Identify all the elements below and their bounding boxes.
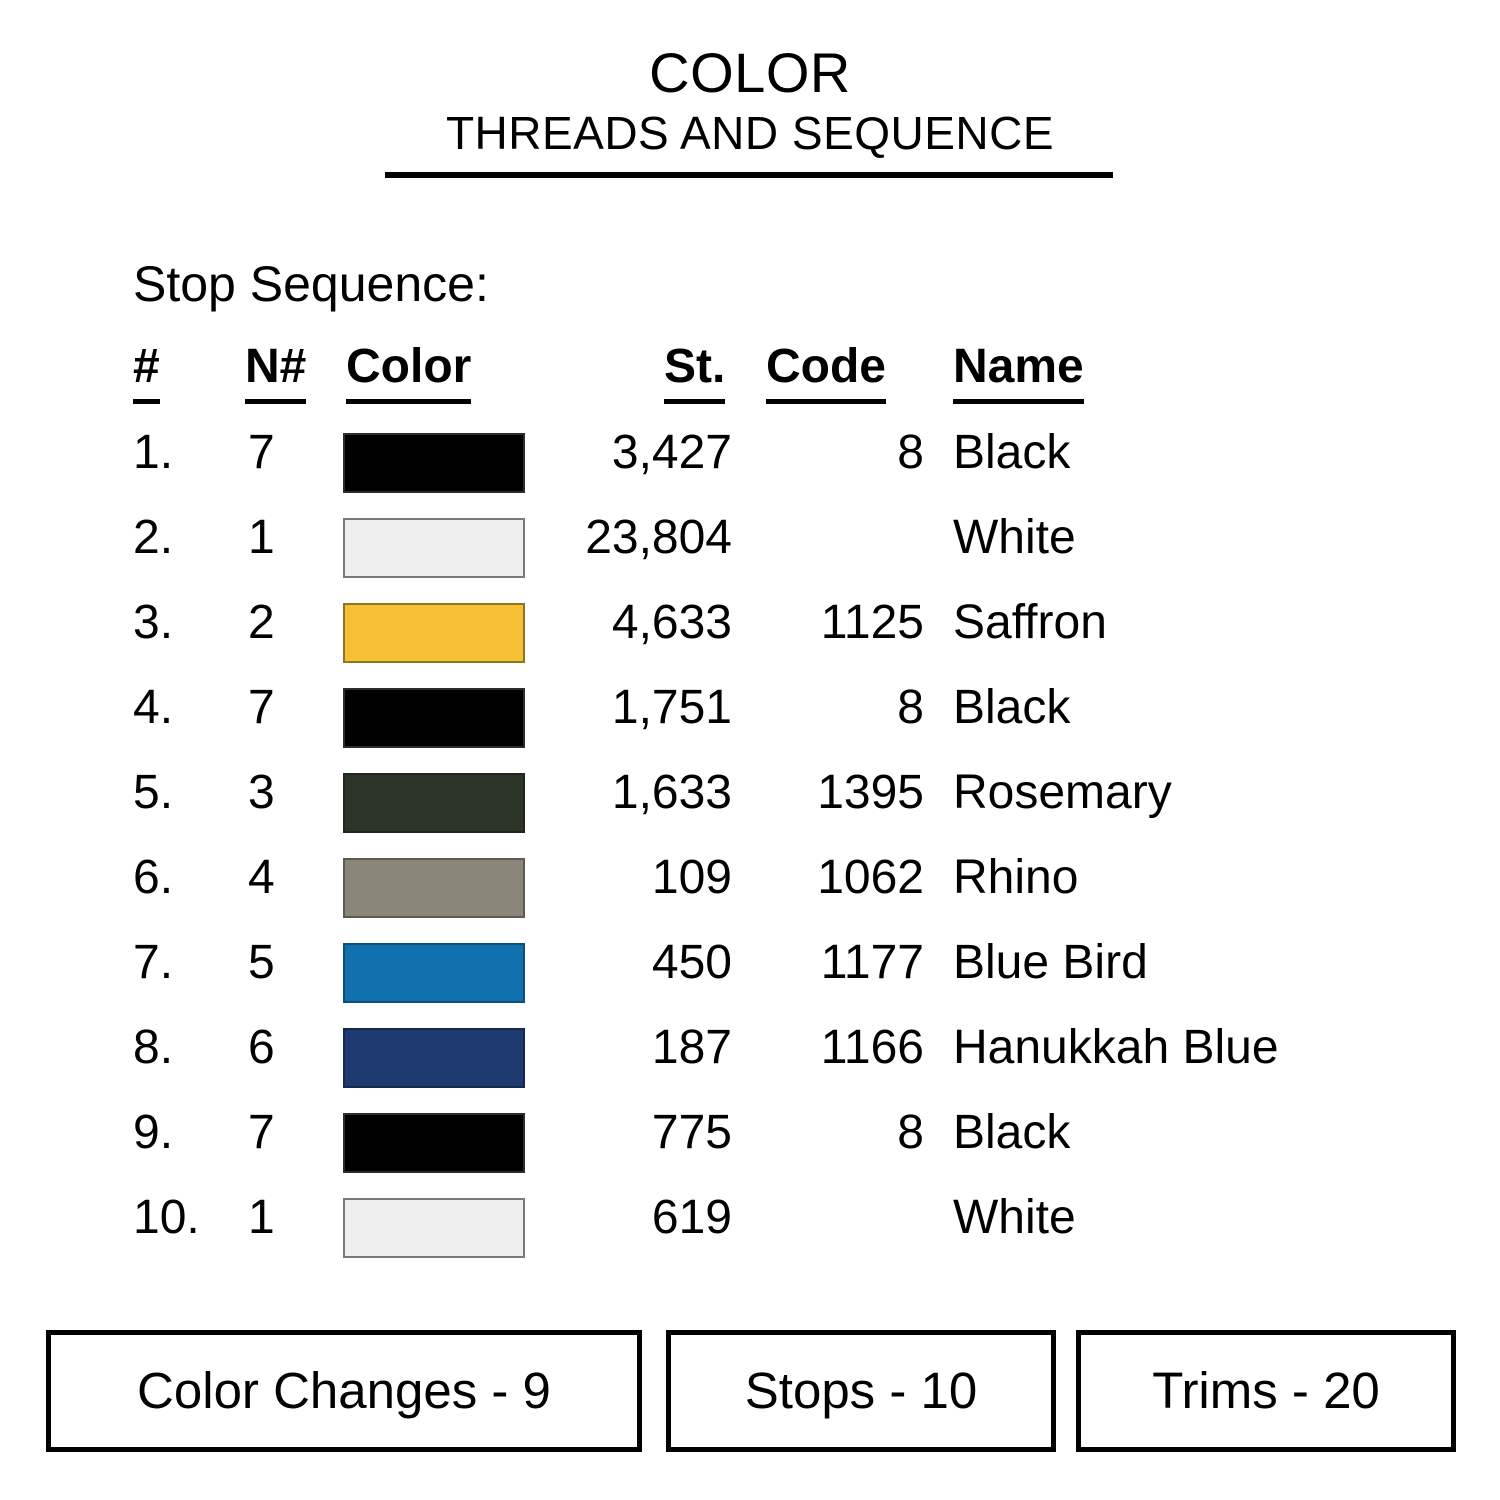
table-row: 6.41091062Rhino xyxy=(0,847,1500,932)
table-row: 4.71,7518Black xyxy=(0,677,1500,762)
cell-index: 2. xyxy=(133,507,243,569)
cell-needle-number: 1 xyxy=(248,507,328,569)
page-subtitle: THREADS AND SEQUENCE xyxy=(0,106,1500,160)
cell-thread-name: Rosemary xyxy=(953,762,1473,824)
cell-thread-name: Saffron xyxy=(953,592,1473,654)
cell-index: 6. xyxy=(133,847,243,909)
title-divider xyxy=(385,172,1113,178)
table-row: 3.24,6331125Saffron xyxy=(0,592,1500,677)
summary-label-stops: Stops - 10 xyxy=(745,1362,977,1420)
summary-box-stops: Stops - 10 xyxy=(666,1330,1056,1452)
summary-box-trims: Trims - 20 xyxy=(1076,1330,1456,1452)
cell-stitch-count: 187 xyxy=(470,1017,732,1079)
cell-thread-code: 1062 xyxy=(742,847,924,909)
page-title: COLOR xyxy=(0,42,1500,104)
stop-sequence-table: # N# Color St. Code Name 1.73,4278Black2… xyxy=(0,338,1500,1272)
summary-row: Color Changes - 9 Stops - 10 Trims - 20 xyxy=(0,1330,1500,1454)
summary-label-trims: Trims - 20 xyxy=(1152,1362,1380,1420)
cell-stitch-count: 619 xyxy=(470,1187,732,1249)
cell-thread-name: Hanukkah Blue xyxy=(953,1017,1473,1079)
cell-thread-code: 1177 xyxy=(742,932,924,994)
column-header-stitches: St. xyxy=(664,338,725,404)
cell-thread-code: 8 xyxy=(742,422,924,484)
cell-needle-number: 7 xyxy=(248,677,328,739)
column-header-color: Color xyxy=(346,338,471,404)
table-header-row: # N# Color St. Code Name xyxy=(0,338,1500,422)
cell-thread-name: Black xyxy=(953,677,1473,739)
cell-thread-name: Black xyxy=(953,1102,1473,1164)
cell-needle-number: 3 xyxy=(248,762,328,824)
cell-thread-code: 1125 xyxy=(742,592,924,654)
cell-index: 1. xyxy=(133,422,243,484)
cell-needle-number: 4 xyxy=(248,847,328,909)
cell-index: 3. xyxy=(133,592,243,654)
table-row: 2.123,804White xyxy=(0,507,1500,592)
table-row: 7.54501177Blue Bird xyxy=(0,932,1500,1017)
cell-stitch-count: 109 xyxy=(470,847,732,909)
cell-stitch-count: 1,633 xyxy=(470,762,732,824)
cell-needle-number: 2 xyxy=(248,592,328,654)
table-row: 10.1619White xyxy=(0,1187,1500,1272)
cell-thread-code: 1395 xyxy=(742,762,924,824)
cell-stitch-count: 1,751 xyxy=(470,677,732,739)
cell-needle-number: 1 xyxy=(248,1187,328,1249)
cell-index: 9. xyxy=(133,1102,243,1164)
cell-index: 5. xyxy=(133,762,243,824)
cell-thread-code: 8 xyxy=(742,677,924,739)
cell-stitch-count: 4,633 xyxy=(470,592,732,654)
cell-stitch-count: 23,804 xyxy=(470,507,732,569)
column-header-code: Code xyxy=(766,338,886,404)
cell-thread-code: 1166 xyxy=(742,1017,924,1079)
cell-needle-number: 7 xyxy=(248,422,328,484)
cell-stitch-count: 775 xyxy=(470,1102,732,1164)
summary-box-color-changes: Color Changes - 9 xyxy=(46,1330,642,1452)
cell-thread-name: Blue Bird xyxy=(953,932,1473,994)
cell-index: 10. xyxy=(133,1187,243,1249)
cell-needle-number: 6 xyxy=(248,1017,328,1079)
column-header-needle: N# xyxy=(245,338,306,404)
column-header-index: # xyxy=(133,338,160,404)
cell-needle-number: 7 xyxy=(248,1102,328,1164)
summary-label-color-changes: Color Changes - 9 xyxy=(137,1362,551,1420)
cell-thread-name: White xyxy=(953,507,1473,569)
cell-stitch-count: 3,427 xyxy=(470,422,732,484)
column-header-name: Name xyxy=(953,338,1084,404)
cell-index: 4. xyxy=(133,677,243,739)
cell-thread-name: Black xyxy=(953,422,1473,484)
table-row: 8.61871166Hanukkah Blue xyxy=(0,1017,1500,1102)
stop-sequence-label: Stop Sequence: xyxy=(133,255,489,313)
table-row: 9.77758Black xyxy=(0,1102,1500,1187)
cell-stitch-count: 450 xyxy=(470,932,732,994)
title-block: COLOR THREADS AND SEQUENCE xyxy=(0,42,1500,160)
cell-index: 8. xyxy=(133,1017,243,1079)
table-row: 1.73,4278Black xyxy=(0,422,1500,507)
cell-needle-number: 5 xyxy=(248,932,328,994)
cell-thread-code: 8 xyxy=(742,1102,924,1164)
color-threads-sequence-page: COLOR THREADS AND SEQUENCE Stop Sequence… xyxy=(0,0,1500,1500)
cell-thread-name: White xyxy=(953,1187,1473,1249)
table-row: 5.31,6331395Rosemary xyxy=(0,762,1500,847)
cell-index: 7. xyxy=(133,932,243,994)
cell-thread-name: Rhino xyxy=(953,847,1473,909)
